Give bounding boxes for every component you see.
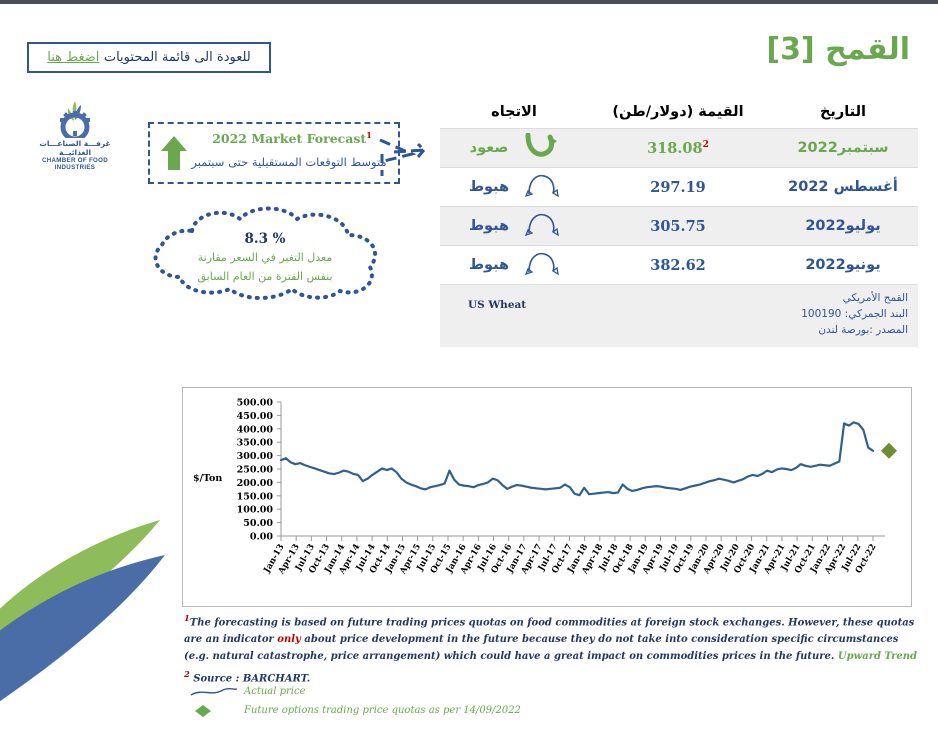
row-value: 297.19 <box>588 179 768 196</box>
svg-text:100.00: 100.00 <box>237 505 274 516</box>
legend-item-actual-price: Actual price <box>184 682 684 701</box>
svg-text:50.00: 50.00 <box>243 518 273 529</box>
svg-text:150.00: 150.00 <box>237 491 274 502</box>
top-accent-bar <box>0 0 938 4</box>
trend-down-arc-icon <box>525 250 559 281</box>
header-value: القيمة (دولار/طن) <box>588 104 768 120</box>
chart-canvas: 0.0050.00100.00150.00200.00250.00300.003… <box>183 388 909 604</box>
price-change-desc-line1: معدل التغير في السعر مقارنة <box>140 251 390 264</box>
trend-up-arc-icon <box>524 133 558 164</box>
blue-line-swatch-icon <box>184 686 244 698</box>
table-footer-arabic: القمح الأمريكي البند الجمركي: 100190 الم… <box>801 290 908 338</box>
header-trend: الاتجاه <box>440 104 588 120</box>
svg-text:300.00: 300.00 <box>237 451 274 462</box>
svg-text:200.00: 200.00 <box>237 478 274 489</box>
svg-text:400.00: 400.00 <box>237 424 274 435</box>
row-trend: هبوط <box>440 211 588 242</box>
price-change-percent: 8.3 % <box>140 231 390 247</box>
svg-text:350.00: 350.00 <box>237 438 274 449</box>
decorative-swoosh-graphic <box>0 470 190 730</box>
svg-text:0.00: 0.00 <box>250 532 274 543</box>
footnote-2-marker: 2 <box>184 669 190 679</box>
price-history-chart: $/Ton 0.0050.00100.00150.00200.00250.003… <box>182 387 912 607</box>
row-value: 305.75 <box>588 218 768 235</box>
legend-item-future-quotas: Future options trading price quotas as p… <box>184 701 684 720</box>
table-header-row: التاريخ القيمة (دولار/طن) الاتجاه <box>440 96 918 128</box>
table-row: يوليو2022 305.75 هبوط <box>440 206 918 245</box>
commodity-name-english: US Wheat <box>468 299 526 311</box>
up-arrow-icon <box>160 134 188 172</box>
legend-label-future-quotas: Future options trading price quotas as p… <box>244 705 521 716</box>
source-arabic: المصدر :بورصة لندن <box>801 322 908 338</box>
hs-code: البند الجمركي: 100190 <box>801 306 908 322</box>
row-trend: صعود <box>440 133 588 164</box>
forecast-subtitle: متوسط التوقعات المستقبلية حتى سبتمبر <box>186 155 392 169</box>
organization-logo: غرفـــة الصناعـــات الغذائيــة CHAMBER O… <box>22 98 128 160</box>
footnote-1-only: only <box>277 634 301 645</box>
table-row: يونيو2022 382.62 هبوط <box>440 245 918 284</box>
forecast-title-text: 2022 Market Forecast <box>212 131 366 146</box>
row-trend-label: صعود <box>470 140 509 156</box>
row-value: 318.082 <box>588 140 768 157</box>
row-date: أغسطس 2022 <box>768 179 918 195</box>
price-change-cloud-callout: 8.3 % معدل التغير في السعر مقارنة بنفس ا… <box>140 203 390 303</box>
table-row: أغسطس 2022 297.19 هبوط <box>440 167 918 206</box>
row-date: سبتمبر2022 <box>768 140 918 156</box>
row-value-footnote: 2 <box>703 140 709 150</box>
row-date: يونيو2022 <box>768 257 918 273</box>
table-footer: القمح الأمريكي البند الجمركي: 100190 الم… <box>440 284 918 347</box>
forecast-title: 2022 Market Forecast1 <box>192 130 392 146</box>
svg-text:250.00: 250.00 <box>237 465 274 476</box>
row-trend: هبوط <box>440 172 588 203</box>
header-date: التاريخ <box>768 104 918 120</box>
prices-table: التاريخ القيمة (دولار/طن) الاتجاه سبتمبر… <box>440 96 918 347</box>
logo-english-name: CHAMBER OF FOOD INDUSTRIES <box>22 157 128 171</box>
svg-text:450.00: 450.00 <box>237 411 274 422</box>
legend-label-actual-price: Actual price <box>244 686 306 697</box>
footnote-1: 1The forecasting is based on future trad… <box>184 610 924 665</box>
footnote-1-upward-trend: Upward Trend <box>838 651 917 662</box>
commodity-name-arabic: القمح الأمريكي <box>801 290 908 306</box>
trend-down-arc-icon <box>525 172 559 203</box>
row-trend-label: هبوط <box>469 257 509 273</box>
market-forecast-box: 2022 Market Forecast1 متوسط التوقعات الم… <box>148 122 400 184</box>
logo-arabic-name: غرفـــة الصناعـــات الغذائيــة <box>22 139 128 157</box>
trend-down-arc-icon <box>525 211 559 242</box>
return-to-contents-link[interactable]: اضغط هنا <box>47 50 99 65</box>
row-date: يوليو2022 <box>768 218 918 234</box>
chart-y-axis-label: $/Ton <box>193 473 222 484</box>
chart-legend: Actual price Future options trading pric… <box>184 682 684 720</box>
row-trend: هبوط <box>440 250 588 281</box>
row-trend-label: هبوط <box>469 179 509 195</box>
svg-text:500.00: 500.00 <box>237 398 274 409</box>
row-value-number: 318.08 <box>647 140 703 157</box>
return-to-contents-text: للعودة الى قائمة المحتويات <box>104 50 251 65</box>
price-change-desc-line2: بنفس الفترة من العام السابق <box>140 270 390 283</box>
table-row: سبتمبر2022 318.082 صعود <box>440 128 918 167</box>
return-to-contents-box[interactable]: للعودة الى قائمة المحتويات اضغط هنا <box>27 42 271 73</box>
forecast-footnote-marker: 1 <box>366 130 372 140</box>
row-value: 382.62 <box>588 257 768 274</box>
row-trend-label: هبوط <box>469 218 509 234</box>
green-diamond-swatch-icon <box>184 703 244 719</box>
page-title: القمح [3] <box>766 32 910 67</box>
gear-wheat-logo-icon <box>50 98 100 138</box>
